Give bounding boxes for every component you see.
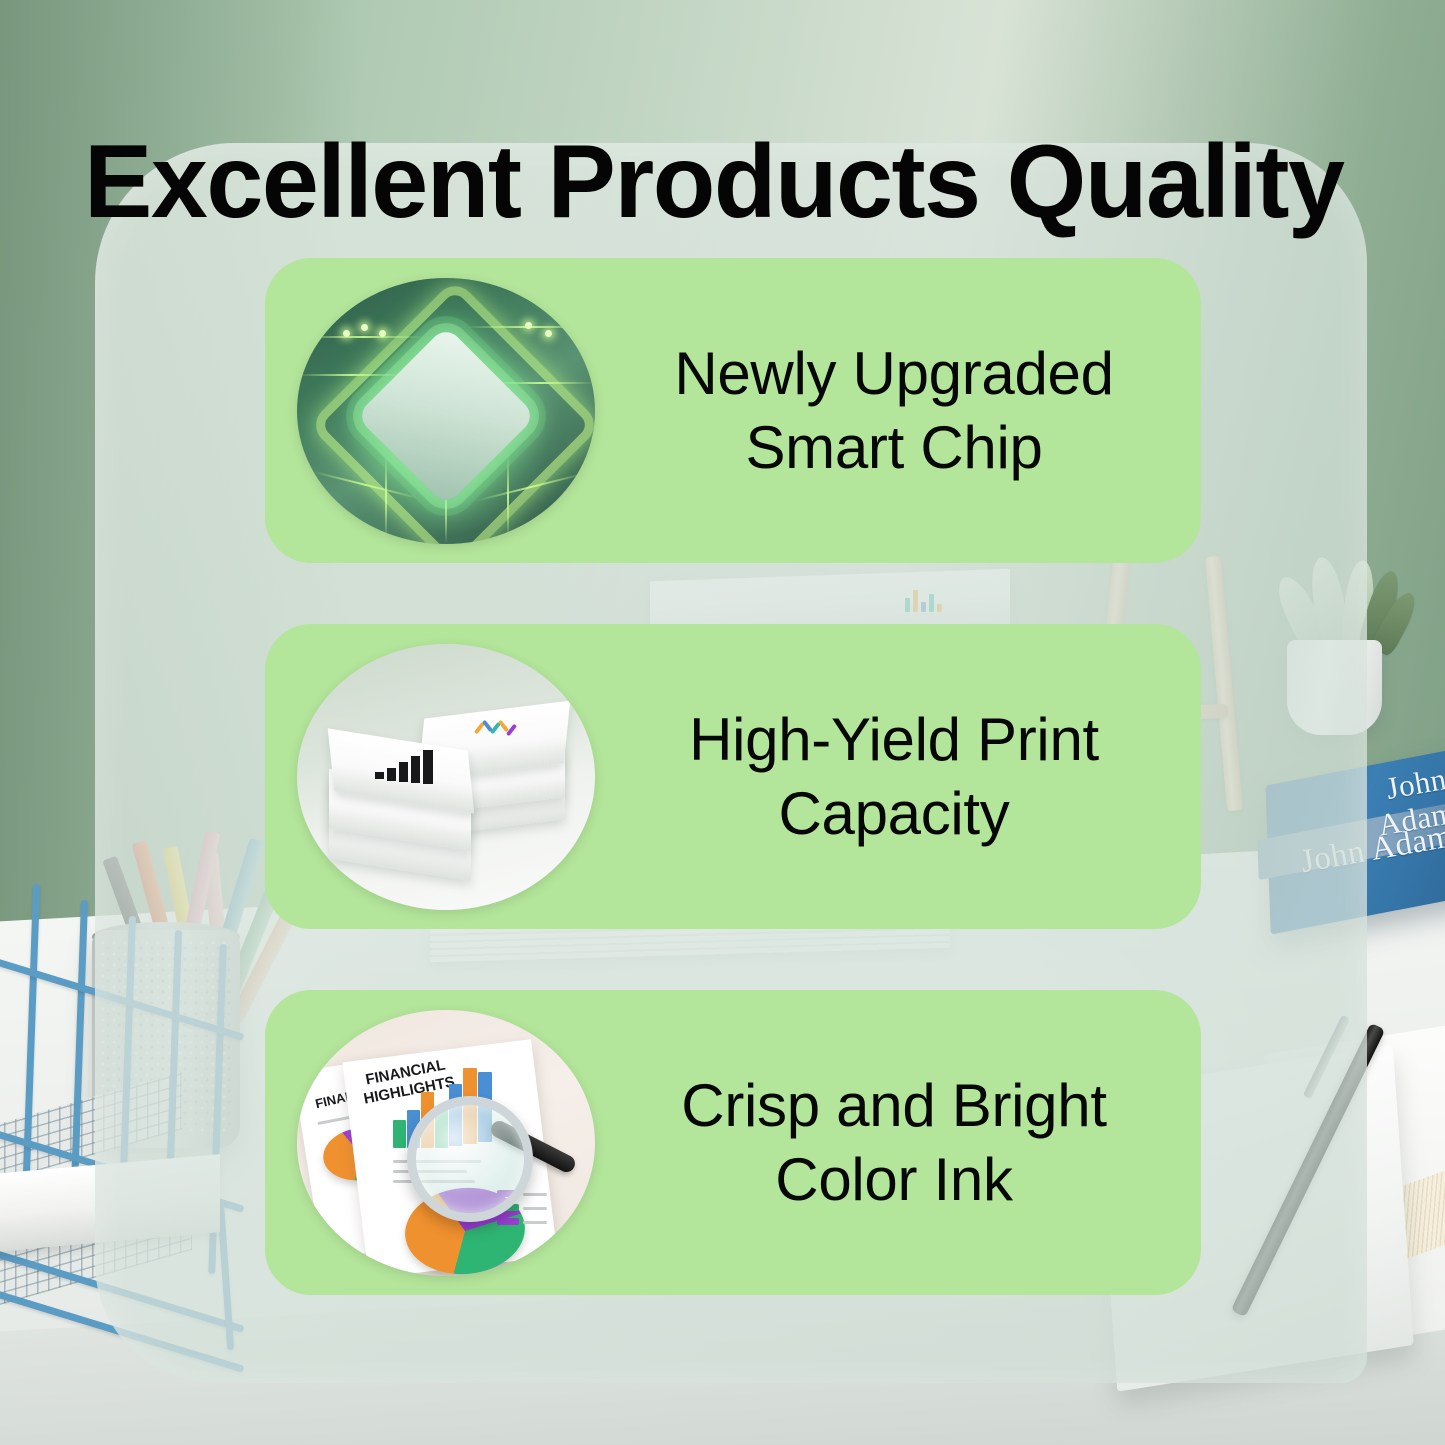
feature-label-color-ink: Crisp and Bright Color Ink [595, 1069, 1201, 1217]
feature-label-smart-chip: Newly Upgraded Smart Chip [595, 337, 1201, 485]
smart-chip-thumbnail [297, 278, 595, 544]
feature-label-print-capacity: High-Yield Print Capacity [595, 703, 1201, 851]
color-ink-thumbnail: FINAN FINANCIAL HIGHLIGHTS [297, 1010, 595, 1276]
bar-chart-glyph [411, 756, 420, 783]
page-title: Excellent Products Quality [84, 128, 1404, 238]
bar-chart-glyph [399, 762, 408, 782]
feature-card-smart-chip[interactable]: Newly Upgraded Smart Chip [265, 258, 1201, 563]
feature-card-print-capacity[interactable]: High-Yield Print Capacity [265, 624, 1201, 929]
bar-chart-glyph [375, 772, 384, 779]
bar-chart-glyph [423, 750, 433, 784]
print-capacity-thumbnail [297, 644, 595, 910]
feature-card-color-ink[interactable]: FINAN FINANCIAL HIGHLIGHTS [265, 990, 1201, 1295]
product-feature-graphic: John Adams John Adams [0, 0, 1445, 1445]
magnifier-glass [407, 1096, 533, 1222]
bar-chart-glyph [387, 768, 396, 781]
